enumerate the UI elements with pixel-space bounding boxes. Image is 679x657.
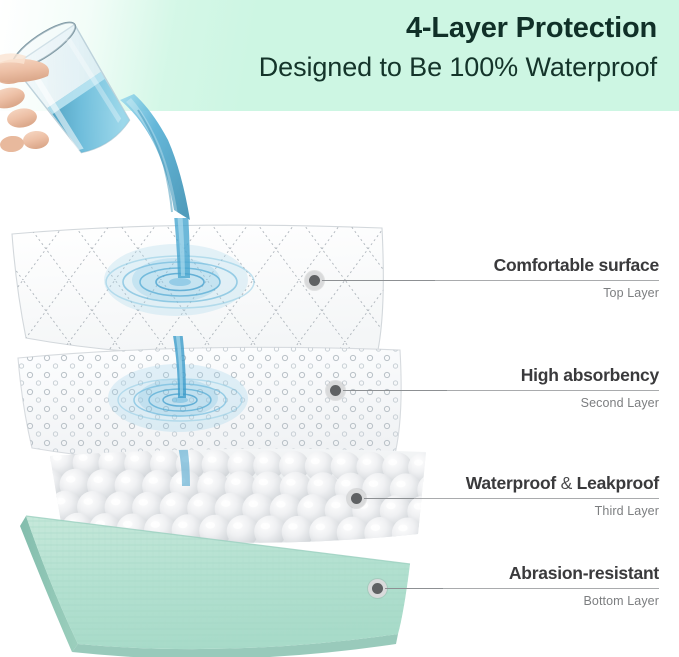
pour-stream bbox=[120, 94, 190, 220]
leader-line-second-layer bbox=[343, 390, 461, 391]
page-subtitle: Designed to Be 100% Waterproof bbox=[137, 48, 657, 86]
callout-headline: Abrasion-resistant bbox=[443, 563, 659, 583]
callout-bottom-layer[interactable]: Abrasion-resistant Bottom Layer bbox=[443, 563, 659, 609]
page-title: 4-Layer Protection bbox=[137, 8, 657, 48]
callout-headline: Waterproof & Leakproof bbox=[414, 473, 659, 493]
callout-sublabel: Top Layer bbox=[435, 286, 659, 301]
callout-headline-post: Leakproof bbox=[577, 473, 659, 493]
callout-rule bbox=[435, 280, 659, 281]
callout-headline: Comfortable surface bbox=[435, 255, 659, 275]
callout-rule bbox=[447, 390, 659, 391]
callout-top-layer[interactable]: Comfortable surface Top Layer bbox=[435, 255, 659, 301]
leader-line-top-layer bbox=[322, 280, 436, 281]
leader-line-third-layer bbox=[364, 498, 414, 499]
callout-sublabel: Second Layer bbox=[447, 396, 659, 411]
callout-third-layer[interactable]: Waterproof & Leakproof Third Layer bbox=[414, 473, 659, 519]
callout-second-layer[interactable]: High absorbency Second Layer bbox=[447, 365, 659, 411]
infographic-canvas: 4-Layer Protection Designed to Be 100% W… bbox=[0, 0, 679, 657]
callout-rule bbox=[414, 498, 659, 499]
callout-rule bbox=[443, 588, 659, 589]
callout-sublabel: Third Layer bbox=[414, 504, 659, 519]
header-text-block: 4-Layer Protection Designed to Be 100% W… bbox=[137, 8, 657, 86]
callout-headline: High absorbency bbox=[447, 365, 659, 385]
hand-pouring-water-pitcher-photo bbox=[0, 14, 207, 224]
ampersand-glyph: & bbox=[556, 473, 577, 493]
callout-sublabel: Bottom Layer bbox=[443, 594, 659, 609]
callout-headline-pre: Waterproof bbox=[466, 473, 556, 493]
